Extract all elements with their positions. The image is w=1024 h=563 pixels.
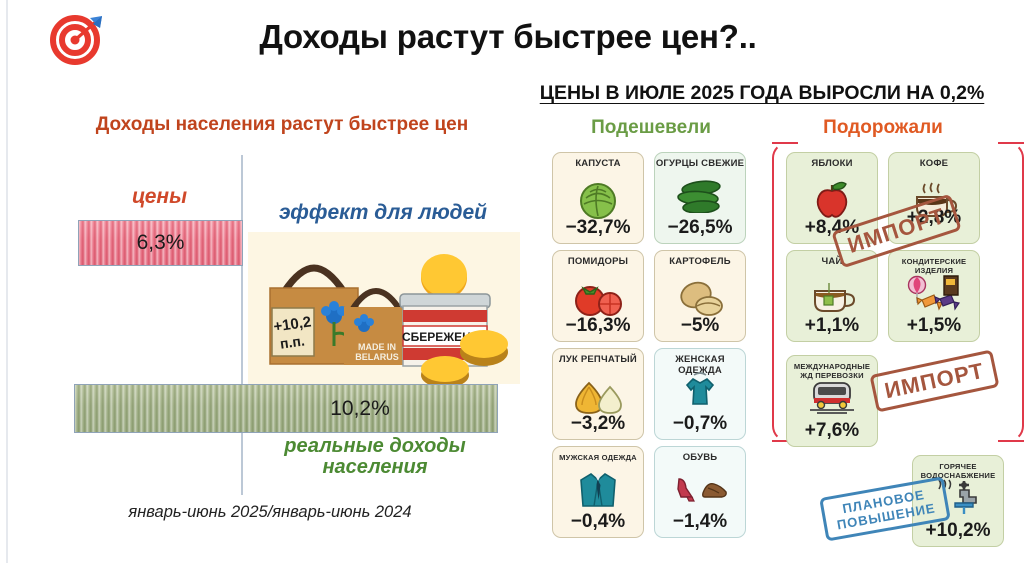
bar-label-prices: цены (78, 185, 241, 209)
infographic-slide: Доходы растут быстрее цен?.. ЦЕНЫ В ИЮЛЕ… (0, 0, 1024, 563)
price-card-value: −16,3% (553, 315, 643, 337)
price-card-cabbage[interactable]: КАПУСТА −32,7% (552, 152, 644, 244)
bar-label-real-income: реальные доходы населения (250, 436, 500, 478)
price-card-value: +1,1% (787, 315, 877, 337)
price-card-label: ЯБЛОКИ (787, 158, 877, 169)
price-card-value: +7,6% (787, 420, 877, 442)
price-card-value: −32,7% (553, 217, 643, 239)
price-card-value: +1,5% (889, 315, 979, 337)
price-card-value: −0,4% (553, 511, 643, 533)
price-card-tomatoes[interactable]: ПОМИДОРЫ −16,3% (552, 250, 644, 342)
bar-real-income: 10,2% (74, 384, 498, 433)
price-card-label: ОГУРЦЫ СВЕЖИЕ (655, 158, 745, 169)
apple-icon (787, 179, 877, 221)
cabbage-icon (553, 179, 643, 221)
price-card-value: −26,5% (655, 217, 745, 239)
slide-left-edge (6, 0, 8, 563)
tomato-icon (553, 277, 643, 319)
tea-cup-icon (787, 277, 877, 319)
onion-icon (553, 375, 643, 417)
bar-prices: 6,3% (78, 220, 243, 266)
price-card-value: −1,4% (655, 511, 745, 533)
chart-axis-line (241, 155, 243, 495)
left-panel-subtitle: Доходы населения растут быстрее цен (42, 114, 522, 136)
price-card-label: КАПУСТА (553, 158, 643, 169)
price-card-cucumbers[interactable]: ОГУРЦЫ СВЕЖИЕ −26,5% (654, 152, 746, 244)
sweets-icon (889, 273, 979, 313)
price-card-label: ЛУК РЕПЧАТЫЙ (553, 354, 643, 365)
train-icon (787, 378, 877, 418)
price-card-value: −5% (655, 315, 745, 337)
prices-headline: ЦЕНЫ В ИЮЛЕ 2025 ГОДА ВЫРОСЛИ НА 0,2% (500, 82, 1024, 105)
suit-icon (553, 469, 643, 509)
price-card-value: −3,2% (553, 413, 643, 435)
price-card-rail-transport[interactable]: МЕЖДУНАРОДНЫЕ ЖД ПЕРЕВОЗКИ +7,6% (786, 355, 878, 447)
price-card-footwear[interactable]: ОБУВЬ −1,4% (654, 446, 746, 538)
page-title: Доходы растут быстрее цен?.. (228, 14, 788, 60)
price-card-potato[interactable]: КАРТОФЕЛЬ −5% (654, 250, 746, 342)
price-card-label: МУЖСКАЯ ОДЕЖДА (553, 453, 643, 462)
price-card-womens-clothing[interactable]: ЖЕНСКАЯ ОДЕЖДА −0,7% (654, 348, 746, 440)
price-card-mens-clothing[interactable]: МУЖСКАЯ ОДЕЖДА −0,4% (552, 446, 644, 538)
shoes-icon (655, 469, 745, 509)
price-card-onion[interactable]: ЛУК РЕПЧАТЫЙ −3,2% (552, 348, 644, 440)
bar-real-income-value: 10,2% (75, 385, 497, 432)
period-note: январь-июнь 2025/январь-июнь 2024 (60, 503, 480, 522)
bar-prices-value: 6,3% (79, 221, 242, 265)
column-heading-cheaper: Подешевели (548, 117, 754, 139)
price-card-label: КОФЕ (889, 158, 979, 169)
price-card-value: −0,7% (655, 413, 745, 435)
effect-title: эффект для людей (252, 201, 514, 225)
price-card-tea[interactable]: ЧАЙ +1,1% (786, 250, 878, 342)
svg-text:MADE IN: MADE IN (358, 342, 396, 352)
svg-text:BELARUS: BELARUS (355, 352, 399, 362)
price-card-label: ПОМИДОРЫ (553, 256, 643, 267)
column-heading-expensive: Подорожали (780, 117, 986, 139)
price-card-label: КАРТОФЕЛЬ (655, 256, 745, 267)
target-dart-icon (50, 12, 104, 66)
svg-text:п.п.: п.п. (279, 332, 306, 351)
cucumber-icon (655, 175, 745, 215)
price-card-label: ОБУВЬ (655, 452, 745, 463)
price-card-confectionery[interactable]: КОНДИТЕРСКИЕ ИЗДЕЛИЯ +1,5% (888, 250, 980, 342)
dress-icon (655, 371, 745, 411)
effect-illustration: +10,2 п.п. MADE IN BELARUS (248, 232, 520, 384)
potato-icon (655, 277, 745, 319)
